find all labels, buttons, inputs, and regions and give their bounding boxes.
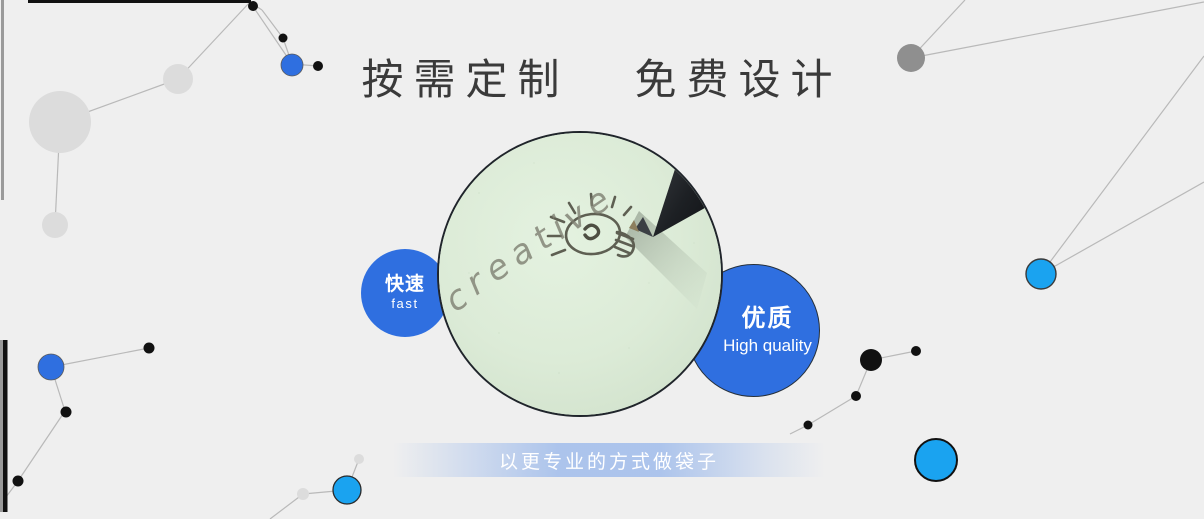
promo-banner: 按需定制 免费设计 快速 fast 优质 High quality — [0, 0, 1204, 519]
node-black — [279, 34, 288, 43]
node-black — [144, 343, 155, 354]
node-black — [13, 476, 24, 487]
node-gray-small — [297, 488, 309, 500]
page-title: 按需定制 免费设计 — [0, 46, 1204, 107]
node-gray — [42, 212, 68, 238]
node-black — [61, 407, 72, 418]
node-blue — [38, 354, 64, 380]
node-cyan — [333, 476, 361, 504]
node-black — [911, 346, 921, 356]
feature-label-en: High quality — [723, 336, 812, 356]
feature-circle-fast[interactable]: 快速 fast — [361, 249, 449, 337]
node-black — [248, 1, 258, 11]
feature-label-en: fast — [391, 297, 418, 312]
node-black — [851, 391, 861, 401]
node-cyan — [1026, 259, 1056, 289]
node-gray-small — [354, 454, 364, 464]
node-black — [804, 421, 813, 430]
tagline-text: 以更专业的方式做袋子 — [499, 447, 719, 474]
feature-label-cn: 优质 — [742, 305, 794, 333]
node-black-large — [860, 349, 882, 371]
lightbulb-sketch-icon: c r e a t i v e — [439, 133, 721, 415]
feature-label-cn: 快速 — [385, 274, 425, 296]
node-cyan-large — [915, 439, 957, 481]
creative-photo-circle: c r e a t i v e — [437, 131, 723, 417]
tagline-bar: 以更专业的方式做袋子 — [393, 443, 825, 477]
